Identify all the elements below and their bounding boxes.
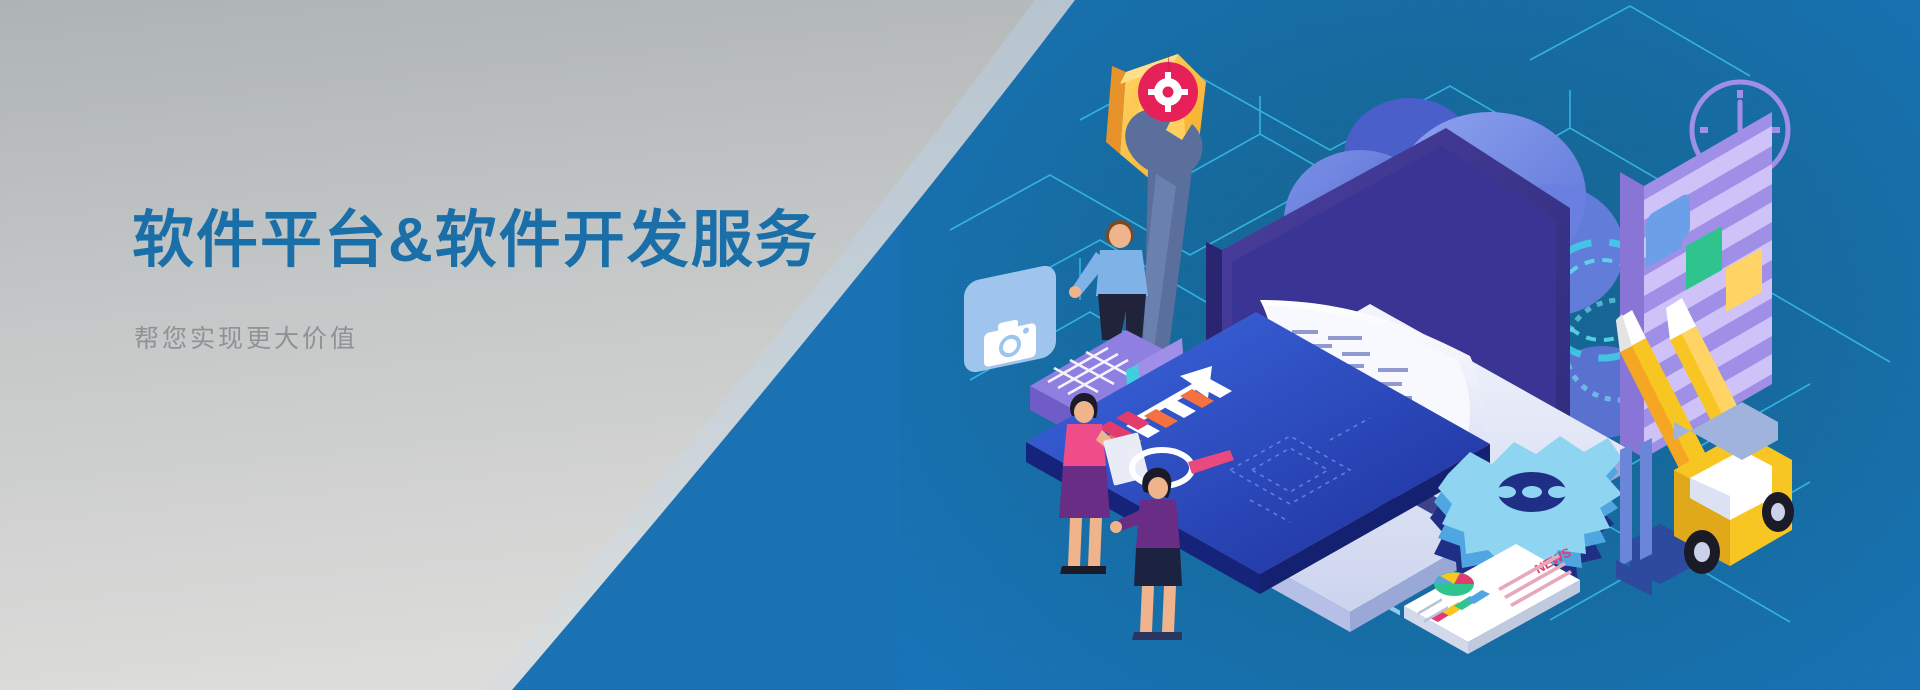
hero-banner: 软件平台&软件开发服务 帮您实现更大价值 bbox=[0, 0, 1920, 690]
hero-illustration: NEWS bbox=[930, 0, 1920, 690]
camera-tile-icon bbox=[964, 263, 1056, 375]
gear-badge-icon bbox=[1138, 52, 1198, 122]
person-engineer bbox=[1069, 220, 1148, 340]
page-title: 软件平台&软件开发服务 bbox=[132, 206, 892, 275]
page-subtitle: 帮您实现更大价值 bbox=[134, 319, 892, 355]
banner-copy: 软件平台&软件开发服务 帮您实现更大价值 bbox=[132, 206, 892, 355]
pie-chart-icon bbox=[1434, 572, 1474, 596]
